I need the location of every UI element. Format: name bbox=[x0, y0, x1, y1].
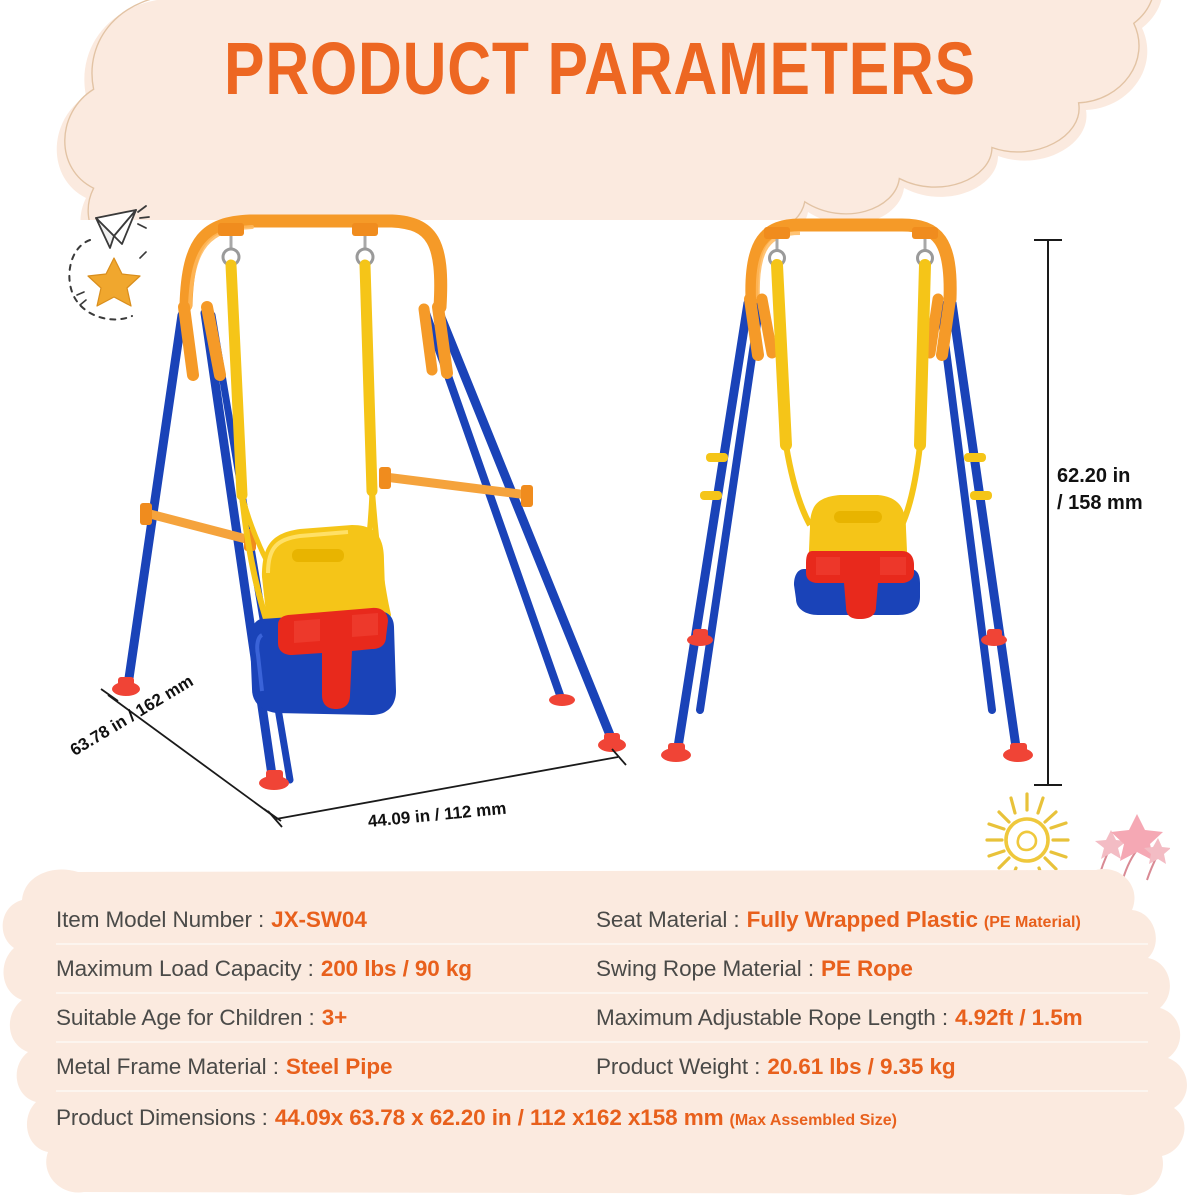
spec-rows-container: Item Model Number : JX-SW04 Seat Materia… bbox=[0, 862, 1200, 1200]
page-title: PRODUCT PARAMETERS bbox=[108, 32, 1092, 106]
spec-label: Metal Frame Material : bbox=[56, 1054, 279, 1080]
spec-value: 200 lbs / 90 kg bbox=[321, 956, 472, 982]
swing-seat-front bbox=[794, 495, 920, 619]
spec-suitable-age: Suitable Age for Children : 3+ bbox=[56, 1005, 596, 1031]
dimension-height-line2: / 158 mm bbox=[1057, 490, 1143, 517]
infographic-page: PRODUCT PARAMETERS bbox=[0, 0, 1200, 1200]
spec-value: PE Rope bbox=[821, 956, 913, 982]
table-row: Product Dimensions : 44.09x 63.78 x 62.2… bbox=[56, 1092, 1148, 1144]
spec-panel: Item Model Number : JX-SW04 Seat Materia… bbox=[0, 862, 1200, 1200]
product-illustrations bbox=[0, 195, 1200, 860]
swing-set-angled-view bbox=[101, 221, 626, 827]
table-row: Item Model Number : JX-SW04 Seat Materia… bbox=[56, 896, 1148, 945]
spec-label: Maximum Load Capacity : bbox=[56, 956, 314, 982]
spec-max-rope-length: Maximum Adjustable Rope Length : 4.92ft … bbox=[596, 1005, 1148, 1031]
spec-value: Fully Wrapped Plastic bbox=[747, 907, 978, 933]
spec-product-weight: Product Weight : 20.61 lbs / 9.35 kg bbox=[596, 1054, 1148, 1080]
seat-handle-slot bbox=[292, 549, 344, 562]
spec-value: 20.61 lbs / 9.35 kg bbox=[767, 1054, 955, 1080]
spec-label: Product Dimensions : bbox=[56, 1105, 268, 1131]
spec-label: Maximum Adjustable Rope Length : bbox=[596, 1005, 948, 1031]
spec-max-load-capacity: Maximum Load Capacity : 200 lbs / 90 kg bbox=[56, 956, 596, 982]
strap-left bbox=[231, 265, 242, 495]
table-row: Metal Frame Material : Steel Pipe Produc… bbox=[56, 1043, 1148, 1092]
spec-label: Product Weight : bbox=[596, 1054, 760, 1080]
spec-label: Item Model Number : bbox=[56, 907, 264, 933]
spec-value: 4.92ft / 1.5m bbox=[955, 1005, 1083, 1031]
spec-value: 3+ bbox=[322, 1005, 347, 1031]
spec-value: Steel Pipe bbox=[286, 1054, 393, 1080]
spec-label: Swing Rope Material : bbox=[596, 956, 814, 982]
spec-label: Seat Material : bbox=[596, 907, 740, 933]
spec-value: JX-SW04 bbox=[271, 907, 367, 933]
swing-set-front-view bbox=[661, 225, 1062, 785]
dimension-height-line1: 62.20 in bbox=[1057, 463, 1143, 490]
spec-swing-rope-material: Swing Rope Material : PE Rope bbox=[596, 956, 1148, 982]
header-banner: PRODUCT PARAMETERS bbox=[0, 0, 1200, 220]
spec-item-model-number: Item Model Number : JX-SW04 bbox=[56, 907, 596, 933]
strap-right bbox=[365, 265, 372, 491]
spec-product-dimensions: Product Dimensions : 44.09x 63.78 x 62.2… bbox=[56, 1105, 1148, 1131]
dimension-label-height: 62.20 in / 158 mm bbox=[1057, 463, 1143, 517]
spec-note: (PE Material) bbox=[984, 914, 1081, 932]
spec-seat-material: Seat Material : Fully Wrapped Plastic (P… bbox=[596, 907, 1148, 933]
spec-note: (Max Assembled Size) bbox=[730, 1112, 897, 1130]
hook-bracket-left bbox=[218, 223, 244, 265]
swing-seat bbox=[250, 525, 396, 715]
spec-value: 44.09x 63.78 x 62.20 in / 112 x162 x158 … bbox=[275, 1105, 724, 1131]
table-row: Maximum Load Capacity : 200 lbs / 90 kg … bbox=[56, 945, 1148, 994]
table-row: Suitable Age for Children : 3+ Maximum A… bbox=[56, 994, 1148, 1043]
spec-label: Suitable Age for Children : bbox=[56, 1005, 315, 1031]
hook-bracket-right bbox=[352, 223, 378, 265]
spec-metal-frame-material: Metal Frame Material : Steel Pipe bbox=[56, 1054, 596, 1080]
